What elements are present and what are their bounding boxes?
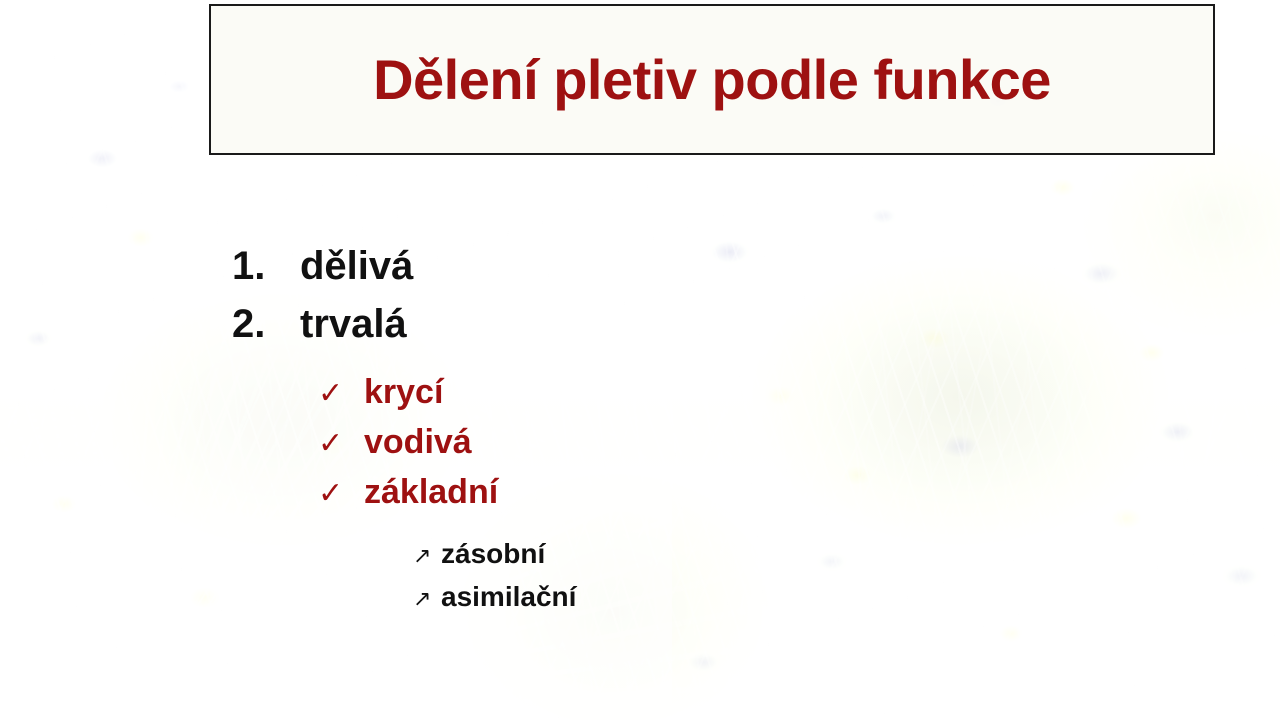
list-item-label: krycí — [364, 375, 443, 409]
check-icon: ✓ — [318, 429, 364, 459]
check-icon: ✓ — [318, 479, 364, 509]
list-item-level3-zasobni: ↗ zásobní — [413, 540, 545, 568]
list-item-label: zásobní — [441, 540, 545, 568]
page-title: Dělení pletiv podle funkce — [373, 52, 1051, 108]
list-item-level1-delива: 1. dělivá — [232, 246, 413, 286]
check-icon: ✓ — [318, 379, 364, 409]
list-item-label: základní — [364, 475, 498, 509]
list-item-level2-kryci: ✓ krycí — [318, 375, 443, 409]
arrow-northeast-icon: ↗ — [413, 545, 441, 567]
list-marker-number: 2. — [232, 304, 300, 344]
arrow-northeast-icon: ↗ — [413, 588, 441, 610]
list-item-label: asimilační — [441, 583, 576, 611]
list-item-level2-zakladni: ✓ základní — [318, 475, 498, 509]
list-item-level3-asimilacni: ↗ asimilační — [413, 583, 576, 611]
slide-body-list: 1. dělivá 2. trvalá ✓ krycí ✓ vodivá ✓ z… — [210, 183, 680, 720]
list-item-label: vodivá — [364, 425, 472, 459]
list-item-level1-trvala: 2. trvalá — [232, 304, 407, 344]
list-item-level2-vodiva: ✓ vodivá — [318, 425, 472, 459]
slide-title-box: Dělení pletiv podle funkce — [209, 4, 1215, 155]
list-item-label: dělivá — [300, 246, 413, 286]
list-item-label: trvalá — [300, 304, 407, 344]
presentation-slide: Dělení pletiv podle funkce 1. dělivá 2. … — [0, 0, 1280, 720]
list-marker-number: 1. — [232, 246, 300, 286]
